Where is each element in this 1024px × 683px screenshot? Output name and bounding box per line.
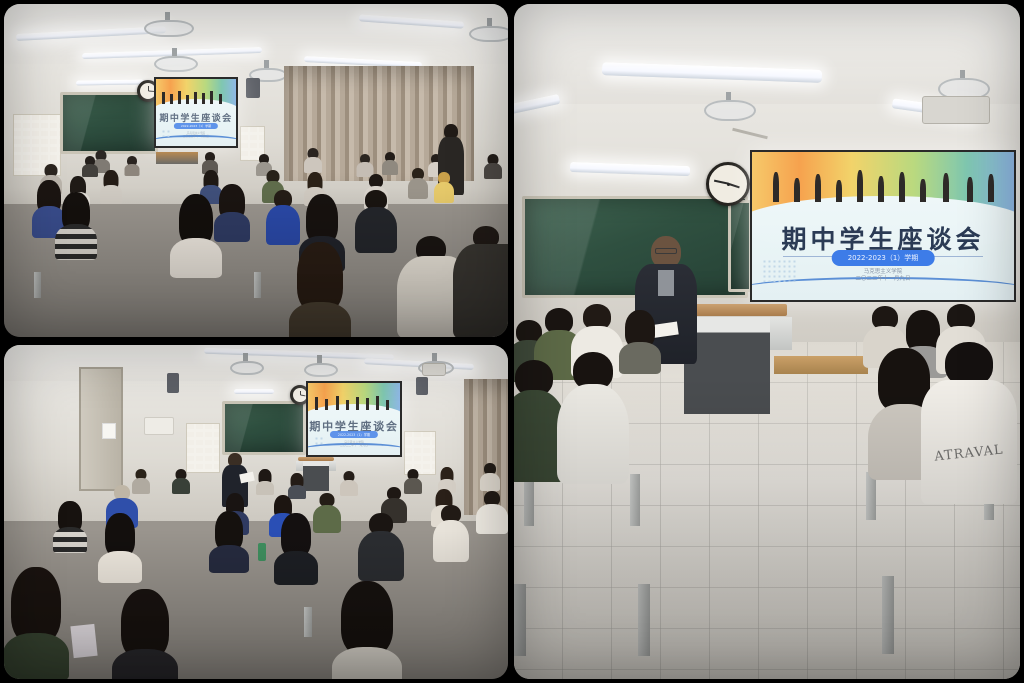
jumping-silhouette bbox=[899, 172, 905, 202]
seated-student bbox=[314, 493, 340, 531]
photo-collage: 期中学生座谈会 2022-2023（1）学期 马克思主义学院 二〇二二年十一月九… bbox=[0, 0, 1024, 683]
panel-bottom-left-classroom: 期中学生座谈会 2022-2023（1）学期 马克思主义学院 二〇二二年十一月九… bbox=[4, 345, 508, 679]
bench-desk-row bbox=[850, 516, 1020, 576]
ceiling-projector bbox=[922, 96, 990, 124]
ceiling-fan bbox=[154, 48, 194, 68]
ceiling-fluorescent-tube bbox=[234, 389, 274, 394]
jumping-silhouette bbox=[815, 174, 821, 202]
jumping-silhouette bbox=[988, 174, 994, 202]
seated-student bbox=[382, 152, 398, 174]
projection-screen: 期中学生座谈会 2022-2023（1）学期 马克思主义学院 二〇二二年十一月九… bbox=[750, 150, 1016, 302]
slide-dot-grid bbox=[762, 259, 796, 283]
clock-hour-hand bbox=[729, 183, 740, 188]
seated-student bbox=[256, 469, 274, 493]
wall-notice bbox=[102, 423, 116, 439]
ceiling-fan bbox=[249, 60, 283, 77]
paper-sheet bbox=[70, 624, 97, 658]
jumping-silhouette bbox=[315, 397, 318, 410]
seated-student bbox=[434, 505, 468, 561]
jumping-silhouette bbox=[210, 91, 213, 104]
seated-student bbox=[356, 190, 396, 252]
seated-student bbox=[438, 467, 456, 491]
jumping-silhouette bbox=[366, 398, 369, 410]
speaker-shirt bbox=[658, 270, 674, 296]
desk-leg bbox=[514, 584, 526, 656]
seated-student bbox=[560, 352, 626, 480]
seated-student bbox=[210, 511, 248, 571]
seated-student bbox=[356, 154, 373, 176]
seated-student bbox=[172, 469, 190, 493]
wall-clock bbox=[706, 162, 750, 206]
seated-student bbox=[266, 190, 300, 244]
seated-student bbox=[114, 589, 176, 679]
jumping-silhouette bbox=[878, 176, 884, 202]
water-bottle bbox=[258, 543, 266, 561]
ceiling-fan bbox=[230, 353, 260, 369]
ceiling-fan bbox=[144, 12, 190, 34]
seated-student bbox=[340, 471, 358, 495]
seated-student bbox=[304, 148, 322, 172]
seated-student bbox=[56, 192, 96, 258]
desk-leg bbox=[304, 607, 312, 637]
projection-screen: 期中学生座谈会 2022-2023（1）学期 马克思主义学院 二〇二二年十一月九… bbox=[154, 77, 238, 148]
jumping-silhouette bbox=[920, 179, 926, 202]
seated-student bbox=[480, 463, 500, 489]
seated-student bbox=[54, 501, 86, 551]
ceiling-projector bbox=[422, 363, 446, 376]
desk-leg bbox=[254, 272, 261, 298]
slide-badge: 2022-2023（1）学期 bbox=[330, 431, 378, 438]
chalkboard bbox=[222, 401, 306, 455]
seated-student bbox=[456, 226, 508, 336]
seated-student bbox=[484, 154, 502, 178]
jumping-silhouette bbox=[202, 93, 205, 104]
jumping-silhouette bbox=[325, 399, 328, 410]
wall-speaker bbox=[416, 377, 428, 395]
seated-student bbox=[404, 469, 422, 493]
desk-leg bbox=[34, 272, 41, 298]
seated-student bbox=[434, 172, 454, 202]
slide-title: 期中学生座谈会 bbox=[156, 111, 236, 124]
ceiling-fan bbox=[704, 92, 752, 120]
slide: 期中学生座谈会 2022-2023（1）学期 马克思主义学院 二〇二二年十一月九… bbox=[752, 152, 1014, 300]
slide-dot-grid bbox=[161, 129, 171, 137]
seated-student bbox=[334, 581, 400, 679]
seated-student bbox=[4, 567, 68, 679]
desk-leg bbox=[630, 474, 640, 526]
seated-student bbox=[82, 156, 98, 176]
slide-dot-grid bbox=[314, 436, 325, 445]
seated-student bbox=[290, 242, 350, 337]
desk-leg bbox=[638, 584, 650, 656]
slide: 期中学生座谈会 2022-2023（1）学期 马克思主义学院 二〇二二年十一月九… bbox=[156, 79, 236, 146]
jumping-silhouette bbox=[336, 396, 339, 410]
seated-student bbox=[288, 473, 306, 497]
wall-speaker bbox=[167, 373, 179, 393]
seated-student bbox=[360, 513, 402, 579]
seated-student bbox=[478, 491, 506, 531]
panel-right-classroom-front: 期中学生座谈会 2022-2023（1）学期 马克思主义学院 二〇二二年十一月九… bbox=[514, 4, 1020, 679]
slide-badge: 2022-2023（1）学期 bbox=[832, 250, 935, 266]
bench-desk-row bbox=[514, 524, 654, 584]
jumping-silhouette bbox=[186, 95, 189, 104]
clock-center bbox=[727, 183, 730, 186]
jumping-silhouette bbox=[857, 170, 863, 202]
seated-student bbox=[124, 156, 139, 175]
bench-desk-row bbox=[4, 577, 508, 609]
jumping-silhouette bbox=[943, 173, 949, 202]
seated-student bbox=[276, 513, 316, 579]
jumping-silhouette bbox=[376, 396, 379, 410]
jumping-silhouette bbox=[346, 400, 349, 410]
jumping-silhouette bbox=[386, 400, 389, 410]
slide-badge: 2022-2023（1）学期 bbox=[174, 123, 218, 129]
jumping-silhouette bbox=[773, 172, 779, 202]
jumping-silhouette bbox=[356, 397, 359, 410]
slide: 期中学生座谈会 2022-2023（1）学期 马克思主义学院 二〇二二年十一月九… bbox=[308, 383, 400, 455]
slide-footer-line2: 二〇二二年十一月九日 bbox=[308, 444, 400, 448]
seated-student bbox=[408, 168, 428, 198]
podium-wing-right bbox=[770, 317, 792, 350]
jumping-silhouette bbox=[170, 94, 173, 104]
seated-student bbox=[100, 513, 140, 579]
phone-pocket-chart bbox=[186, 423, 220, 473]
projection-screen: 期中学生座谈会 2022-2023（1）学期 马克思主义学院 二〇二二年十一月九… bbox=[306, 381, 402, 457]
seated-student bbox=[620, 310, 660, 372]
panel-top-left-classroom: 期中学生座谈会 2022-2023（1）学期 马克思主义学院 二〇二二年十一月九… bbox=[4, 4, 508, 337]
wall-speaker bbox=[246, 78, 260, 98]
seated-student bbox=[172, 194, 220, 272]
ceiling-fan bbox=[469, 18, 508, 38]
jumping-silhouette bbox=[967, 177, 973, 202]
desk-leg bbox=[882, 576, 894, 654]
jumping-silhouette bbox=[794, 178, 800, 202]
jumping-silhouette bbox=[194, 92, 197, 104]
classroom-door bbox=[79, 367, 123, 491]
jumping-silhouette bbox=[178, 91, 181, 104]
chalkboard-side bbox=[728, 200, 752, 292]
seated-student bbox=[100, 170, 122, 202]
speaker-glasses bbox=[655, 248, 677, 254]
ceiling-fan bbox=[304, 355, 334, 371]
seated-student bbox=[214, 184, 250, 240]
jumping-silhouette bbox=[836, 180, 842, 202]
seated-student-with-graphic-jacket: ATRAVAL bbox=[926, 342, 1012, 502]
jumping-silhouette bbox=[219, 94, 222, 104]
wall-ac-unit bbox=[144, 417, 174, 435]
front-teacher-desk bbox=[156, 152, 198, 164]
jumping-silhouette bbox=[162, 92, 165, 104]
